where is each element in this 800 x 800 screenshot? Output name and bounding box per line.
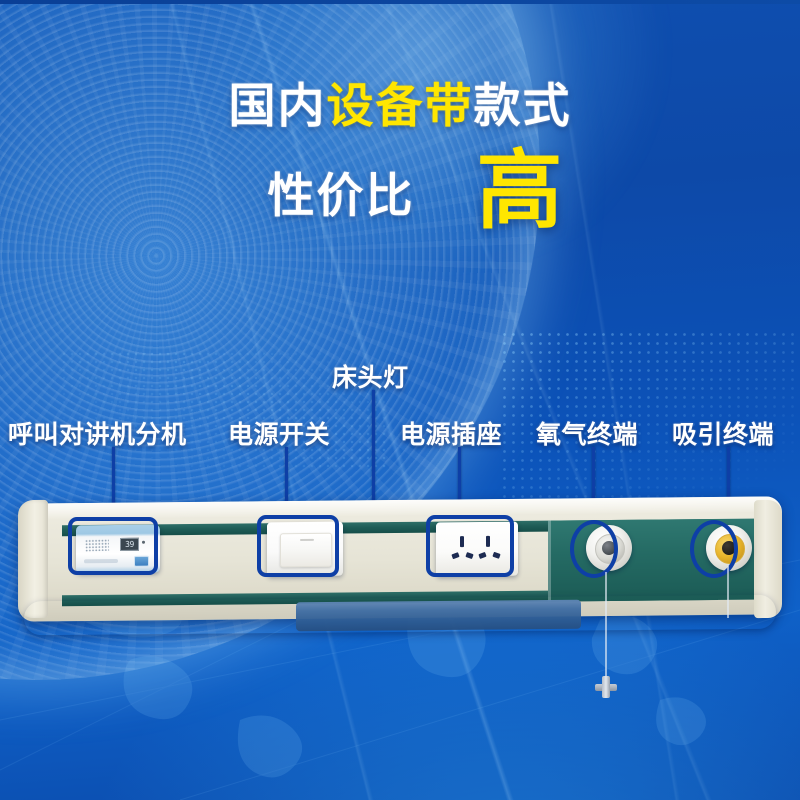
headline-accent-char: 高 — [477, 141, 563, 241]
cross-fitting-vertical — [602, 676, 610, 698]
callout-label-suction-terminal: 吸引终端 — [672, 415, 774, 451]
nurse-call-intercom-unit[interactable]: 39 — [76, 525, 160, 574]
status-led-icon — [142, 541, 145, 544]
cross-fitting-connector — [595, 676, 617, 698]
suction-terminal-port[interactable] — [706, 525, 752, 571]
intercom-call-button[interactable] — [134, 556, 149, 567]
oxygen-terminal-port[interactable] — [586, 525, 632, 571]
headline-subtext: 性价比 — [268, 170, 415, 225]
headline-line-1: 国内设备带款式 — [0, 82, 800, 131]
power-switch-unit[interactable] — [267, 522, 343, 577]
panel-lower-rail-dark-section — [296, 600, 581, 631]
suction-terminal-core — [722, 541, 736, 555]
rocker-paddle[interactable] — [280, 533, 332, 567]
socket-angled-pin-icon-4 — [492, 552, 500, 559]
promo-image-canvas: 国内设备带款式 性价比高 呼叫对讲机分机 电源开关 床头灯 电源插座 氧气终端 … — [0, 0, 800, 800]
headline-part-2: 设备带 — [327, 79, 474, 134]
headline-part-1: 国内 — [229, 79, 327, 134]
panel-teal-edge — [548, 521, 551, 602]
speaker-grille-icon — [85, 539, 109, 552]
callout-label-power-socket: 电源插座 — [400, 415, 502, 451]
callout-label-intercom: 呼叫对讲机分机 — [8, 415, 187, 451]
socket-angled-pin-icon-2 — [465, 552, 473, 559]
socket-angled-pin-icon-3 — [478, 552, 486, 559]
socket-holes-group — [436, 522, 518, 577]
socket-pin-icon-2 — [486, 536, 490, 547]
oxygen-hose-tube — [605, 572, 607, 680]
callout-label-oxygen-terminal: 氧气终端 — [536, 415, 638, 451]
socket-angled-pin-icon-1 — [451, 552, 459, 559]
callout-label-bed-lamp: 床头灯 — [332, 358, 409, 394]
headline-line-2: 性价比高 — [0, 153, 800, 230]
headline-block: 国内设备带款式 性价比高 — [0, 82, 800, 231]
oxygen-terminal-core — [602, 541, 616, 555]
rocker-mark-icon — [300, 539, 314, 541]
headline-part-3: 款式 — [474, 79, 572, 134]
callout-label-power-switch: 电源开关 — [228, 415, 330, 451]
socket-pin-icon-1 — [460, 536, 464, 547]
top-edge-band — [0, 0, 800, 4]
suction-hose-tube — [727, 566, 729, 618]
intercom-display: 39 — [120, 538, 139, 551]
power-socket-unit[interactable] — [436, 522, 518, 577]
medical-equipment-panel: 39 — [18, 494, 782, 640]
panel-top-highlight — [18, 496, 782, 519]
intercom-slot — [84, 559, 118, 563]
